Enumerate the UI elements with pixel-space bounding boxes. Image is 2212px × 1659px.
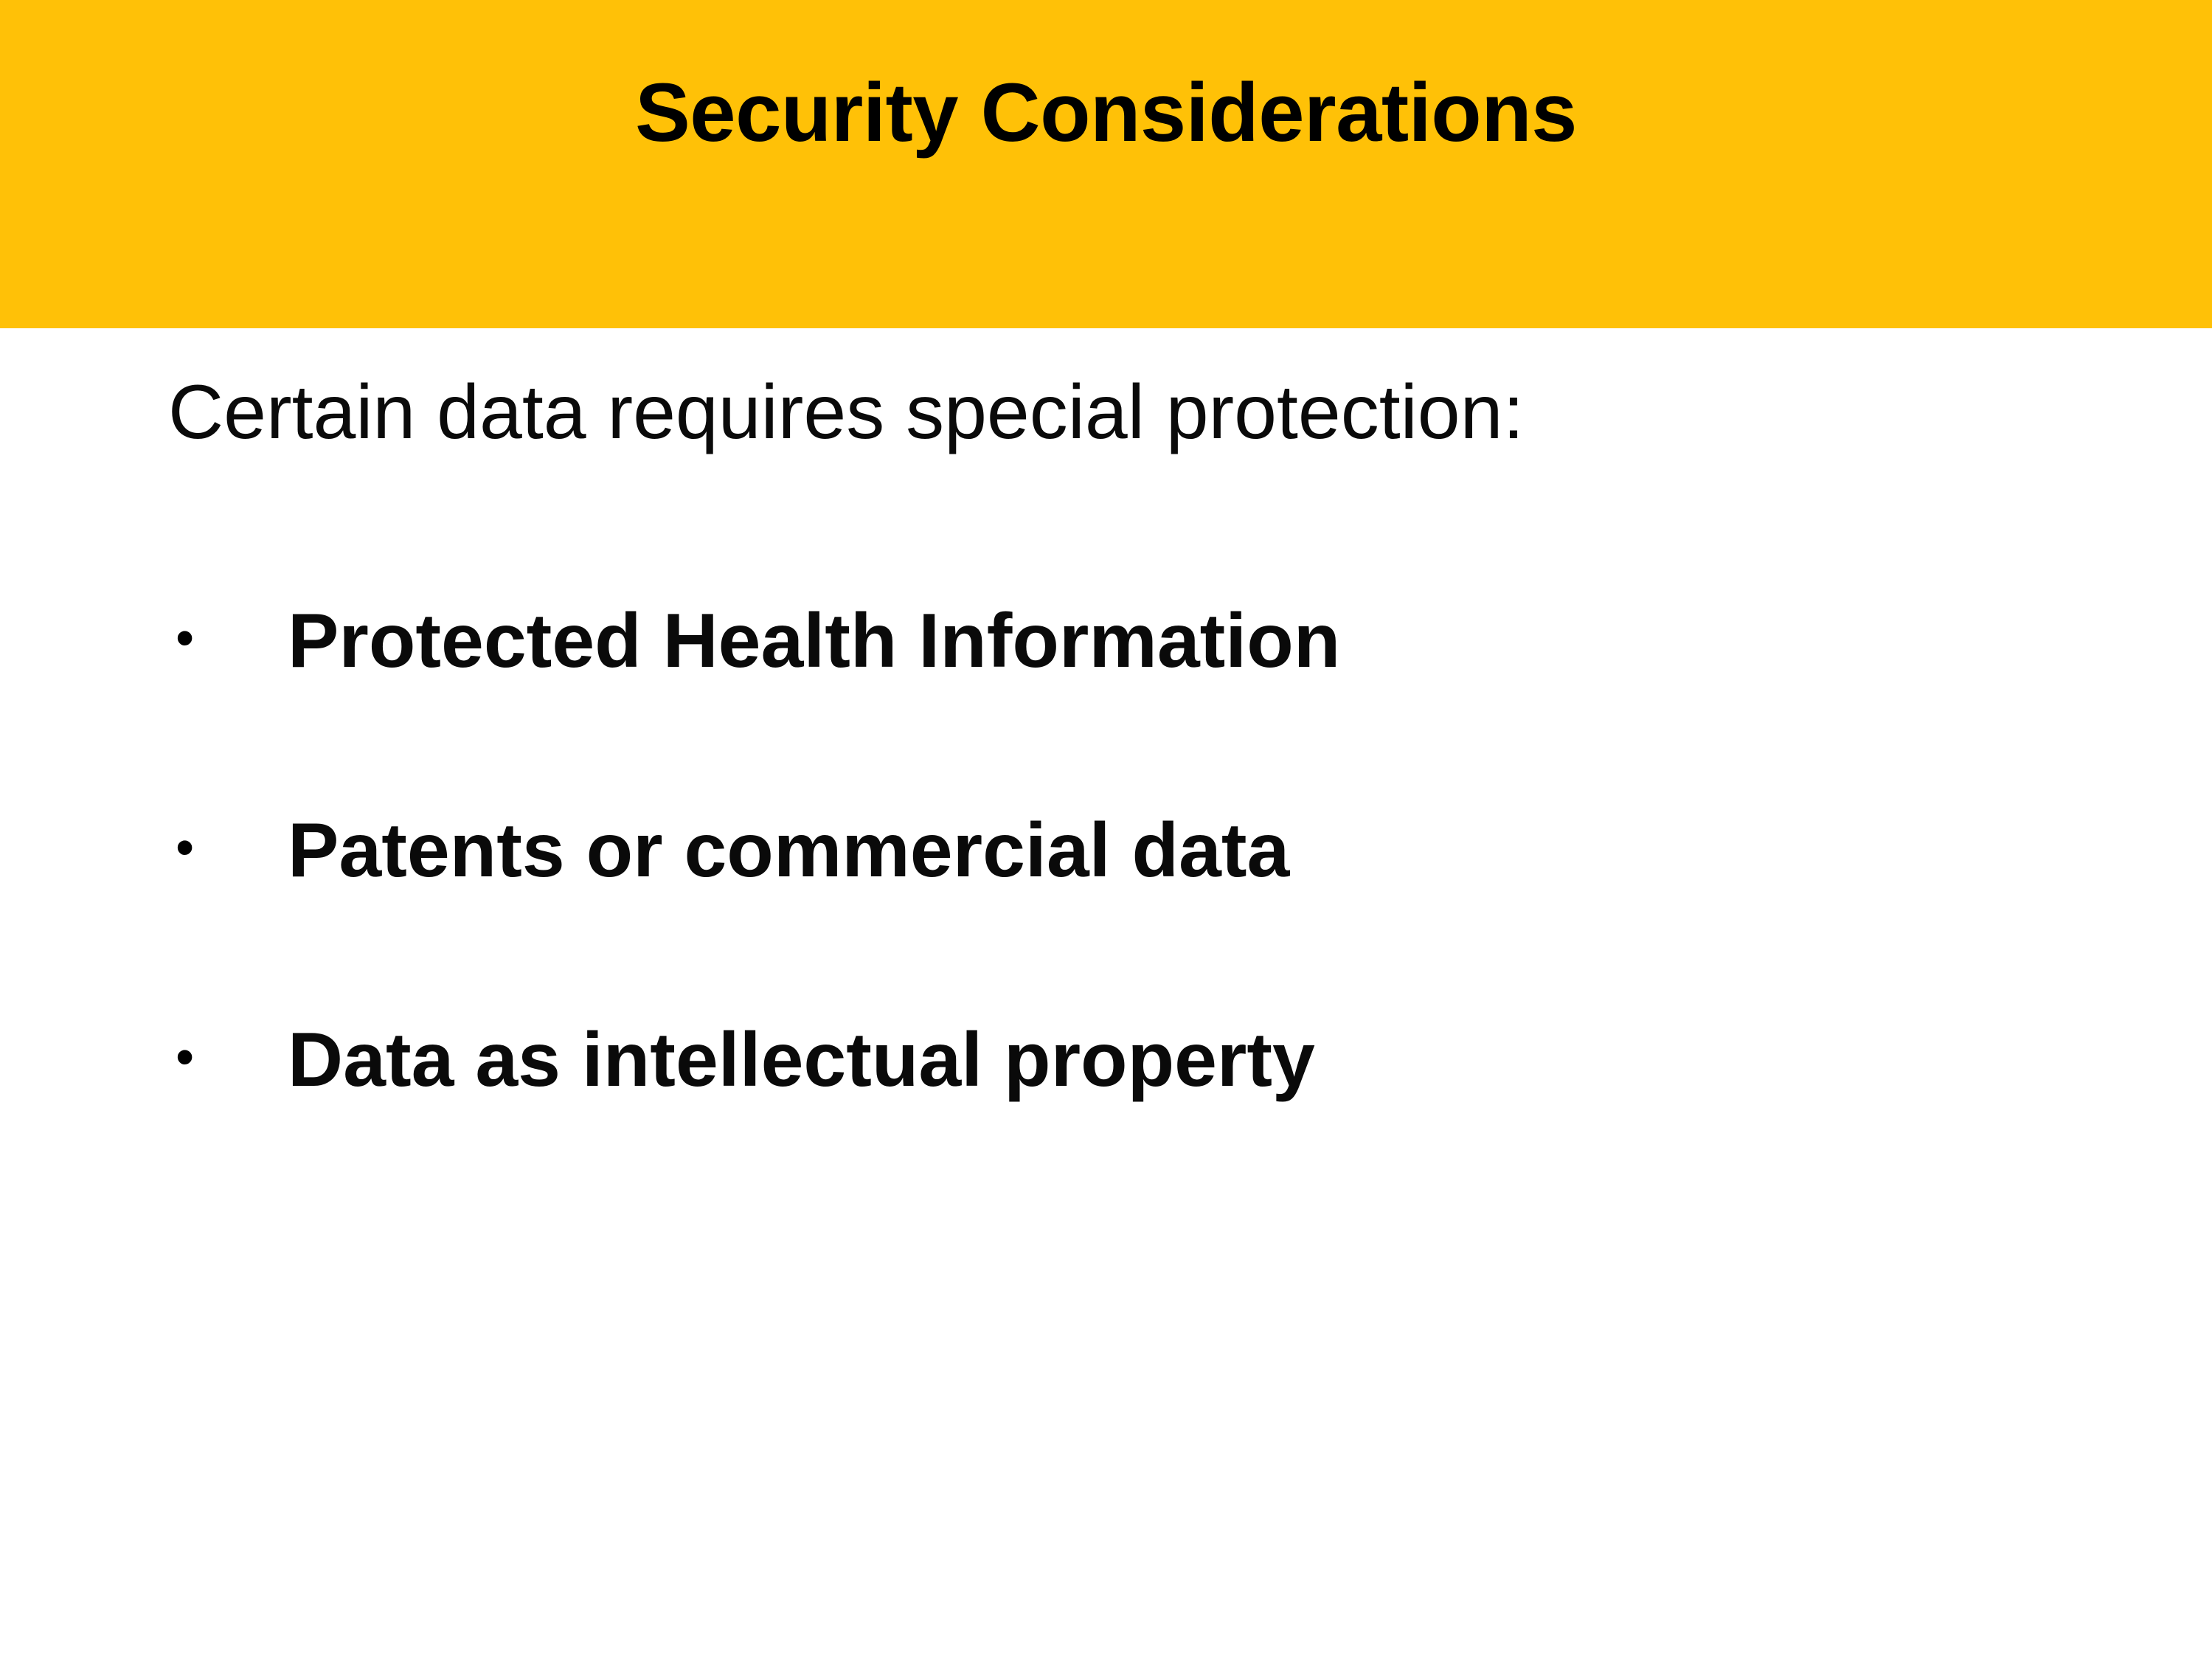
slide-body: Certain data requires special protection…: [0, 328, 2212, 1659]
list-item: • Protected Health Information: [168, 603, 2012, 812]
slide-title-band: Security Considerations: [0, 0, 2212, 328]
list-item: • Data as intellectual property: [168, 1022, 2012, 1231]
intro-text: Certain data requires special protection…: [168, 369, 1524, 457]
bullet-point-icon: •: [176, 812, 208, 889]
bullet-point-icon: •: [176, 1022, 208, 1098]
list-item-label: Patents or commercial data: [288, 812, 1289, 889]
list-item: • Patents or commercial data: [168, 812, 2012, 1022]
page-title: Security Considerations: [0, 0, 2212, 328]
bullet-point-icon: •: [176, 603, 208, 679]
list-item-label: Protected Health Information: [288, 603, 1340, 679]
list-item-label: Data as intellectual property: [288, 1022, 1315, 1098]
bullet-list: • Protected Health Information • Patents…: [168, 603, 2012, 1231]
presentation-slide: Security Considerations Certain data req…: [0, 0, 2212, 1659]
